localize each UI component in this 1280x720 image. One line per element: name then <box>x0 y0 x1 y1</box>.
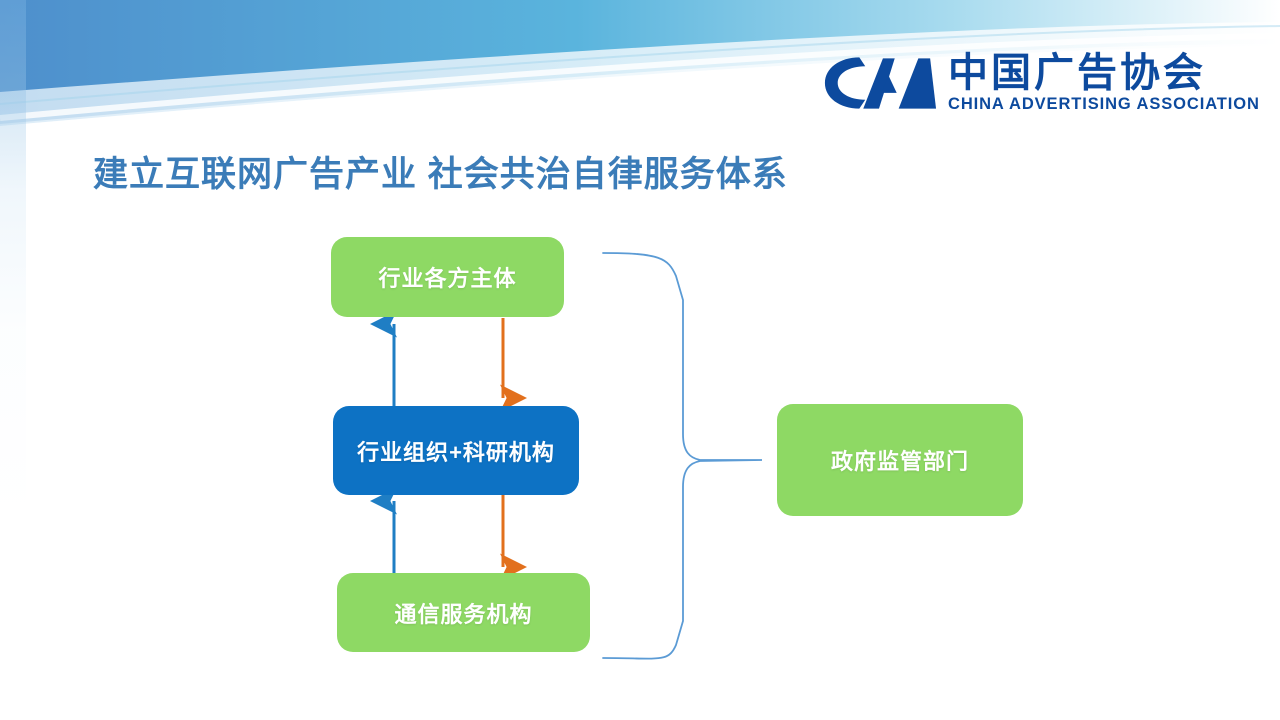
group-brace-to-government <box>603 253 762 659</box>
node-organization[interactable]: 行业组织+科研机构 <box>333 406 579 495</box>
diagram-container: 行业各方主体 行业组织+科研机构 通信服务机构 政府监管部门 <box>0 0 1280 720</box>
slide-canvas: 中国广告协会 CHINA ADVERTISING ASSOCIATION 建立互… <box>0 0 1280 720</box>
node-organization-label: 行业组织+科研机构 <box>357 435 555 467</box>
node-industry[interactable]: 行业各方主体 <box>331 237 564 317</box>
node-telecom-service[interactable]: 通信服务机构 <box>337 573 590 652</box>
node-government-regulator[interactable]: 政府监管部门 <box>777 404 1023 516</box>
node-industry-label: 行业各方主体 <box>378 261 516 293</box>
connector-layer <box>0 0 1280 720</box>
node-telecom-service-label: 通信服务机构 <box>394 597 532 629</box>
node-government-regulator-label: 政府监管部门 <box>831 444 969 476</box>
